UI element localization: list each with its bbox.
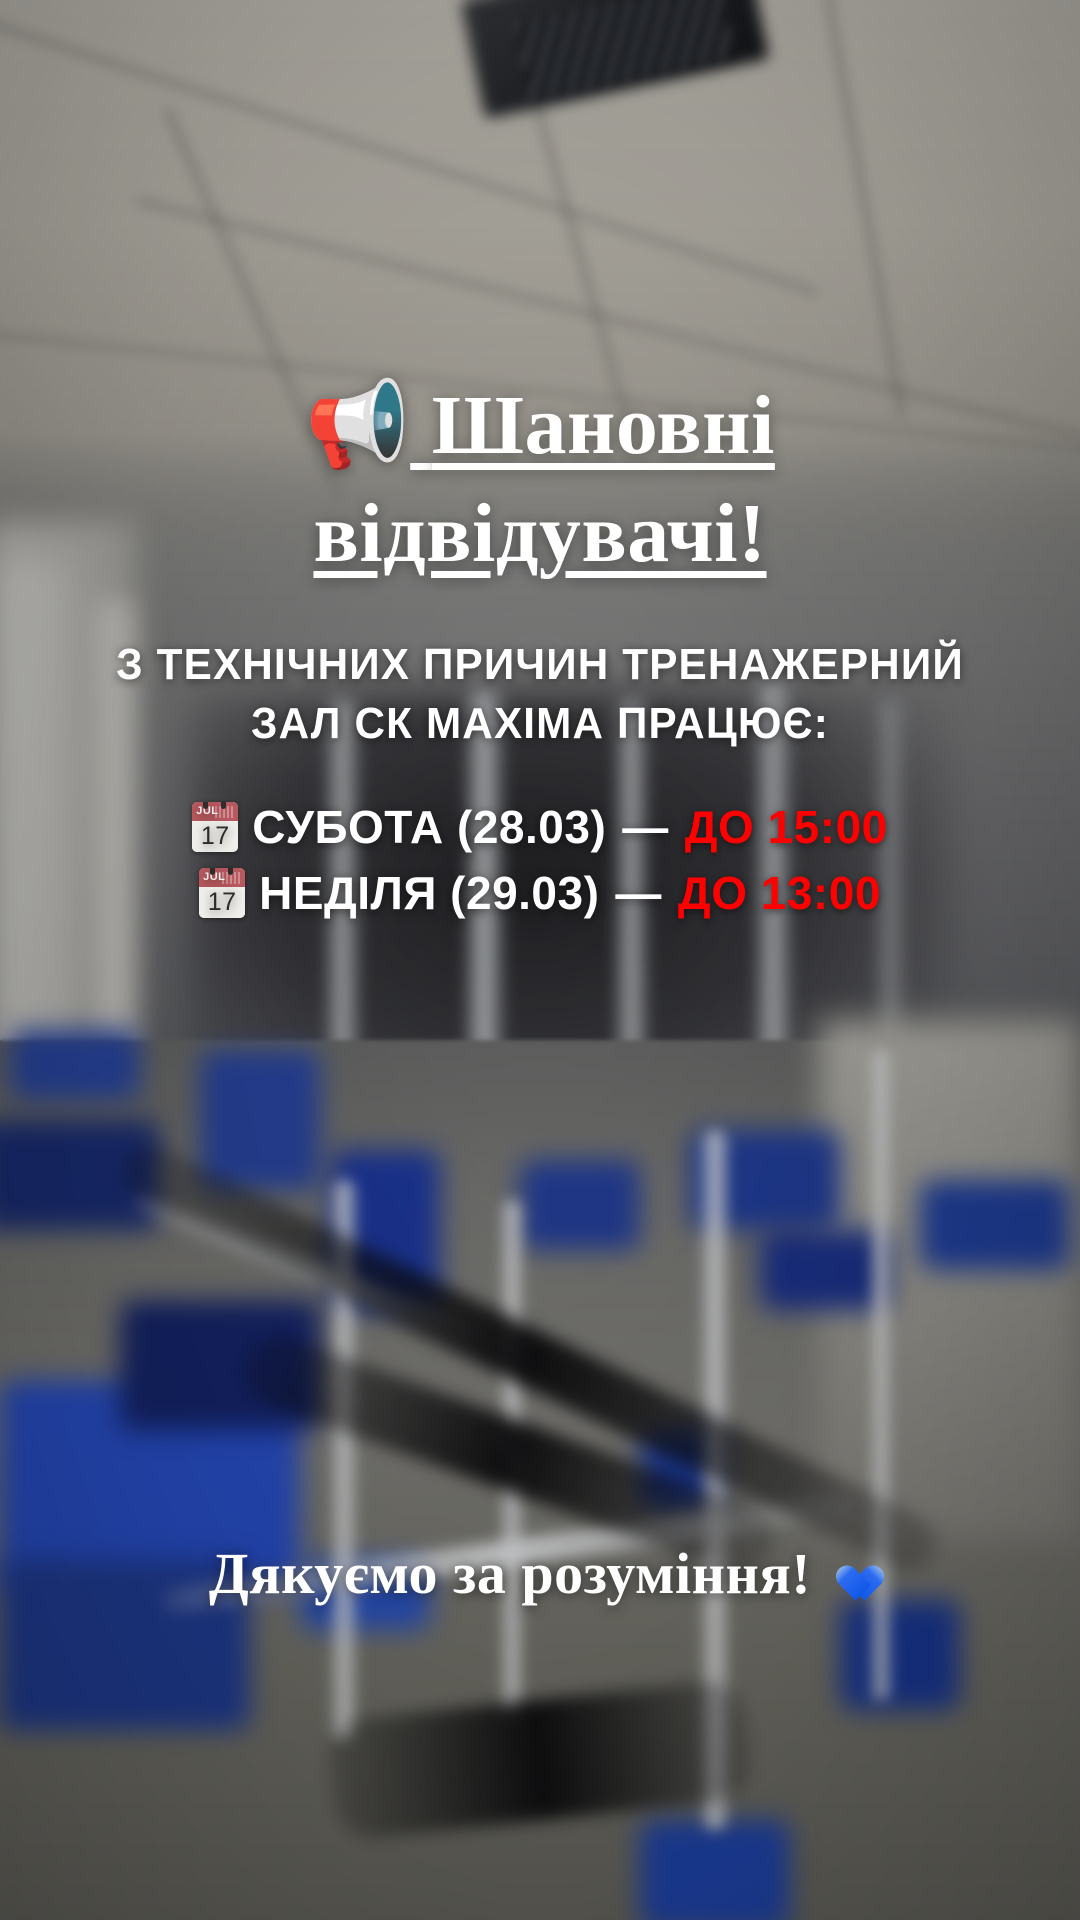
page-title-line2: відвідувачі! — [313, 487, 766, 580]
subtitle-line1: З ТЕХНІЧНИХ ПРИЧИН ТРЕНАЖЕРНИЙ — [116, 640, 964, 689]
thank-you-text: Дякуємо за розуміння! — [209, 1540, 811, 1607]
calendar-icon: JUL 17 — [192, 802, 238, 852]
schedule-day-label: СУБОТА (28.03) — [252, 800, 606, 854]
schedule-list: JUL 17 СУБОТА (28.03) — ДО 15:00 JUL 17 … — [0, 800, 1080, 920]
schedule-dash: — — [620, 800, 671, 854]
subtitle: З ТЕХНІЧНИХ ПРИЧИН ТРЕНАЖЕРНИЙ ЗАЛ СК МА… — [22, 636, 1059, 754]
schedule-dash: — — [613, 866, 664, 920]
calendar-day: 17 — [199, 887, 245, 918]
calendar-icon: JUL 17 — [199, 868, 245, 918]
announcement-poster: 📢 Шановні відвідувачі! З ТЕХНІЧНИХ ПРИЧИ… — [0, 0, 1080, 1920]
page-title-line1: Шановні — [432, 379, 775, 472]
calendar-day: 17 — [192, 821, 238, 852]
page-title: 📢 Шановні відвідувачі! — [0, 372, 1080, 587]
megaphone-icon: 📢 — [305, 372, 410, 480]
thank-you-note: Дякуємо за розуміння! — [0, 1540, 1080, 1607]
blue-heart-icon — [827, 1548, 871, 1592]
schedule-time-value: ДО 15:00 — [685, 800, 888, 854]
schedule-day-label: НЕДІЛЯ (29.03) — [259, 866, 599, 920]
schedule-row-sunday: JUL 17 НЕДІЛЯ (29.03) — ДО 13:00 — [199, 866, 881, 920]
schedule-time-value: ДО 13:00 — [678, 866, 881, 920]
subtitle-line2: ЗАЛ СК МАХІМА ПРАЦЮЄ: — [251, 699, 829, 748]
schedule-row-saturday: JUL 17 СУБОТА (28.03) — ДО 15:00 — [192, 800, 888, 854]
